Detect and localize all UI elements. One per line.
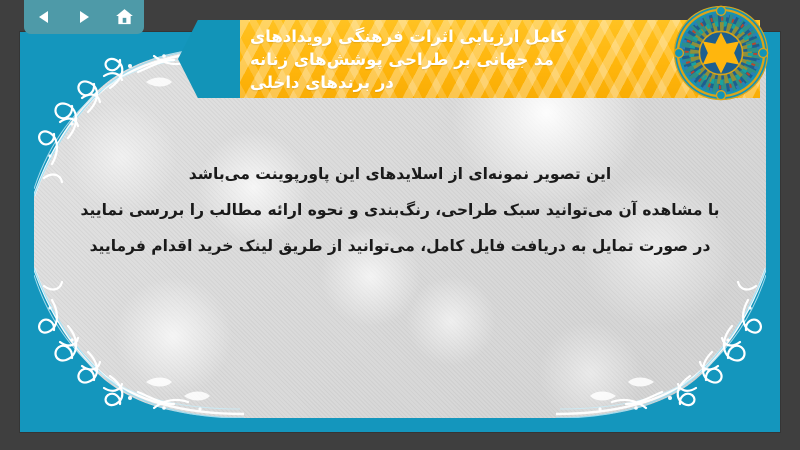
arabesque-corner-ornament-bottom-left: [34, 268, 244, 418]
title-line: مد جهانی بر طراحی پوشش‌های زنانه: [250, 48, 554, 71]
arabesque-corner-ornament-bottom-right: [556, 268, 766, 418]
home-icon: [115, 8, 134, 26]
body-line: این تصویر نمونه‌ای از اسلایدهای این پاور…: [74, 156, 726, 192]
back-button[interactable]: [29, 4, 59, 30]
title-line: در برندهای داخلی: [250, 71, 394, 94]
title-line: کامل ارزیابی اثرات فرهنگی رویدادهای: [250, 25, 566, 48]
persian-rosette-medallion-icon: [672, 4, 770, 102]
slide-content-panel: این تصویر نمونه‌ای از اسلایدهای این پاور…: [34, 46, 766, 418]
home-button[interactable]: [109, 4, 139, 30]
slide-body-text: این تصویر نمونه‌ای از اسلایدهای این پاور…: [74, 156, 726, 264]
body-line: با مشاهده آن می‌توانید سبک طراحی، رنگ‌بن…: [74, 192, 726, 228]
body-line: در صورت تمایل به دریافت فایل کامل، می‌تو…: [74, 228, 726, 264]
navigation-toolbar: [24, 0, 144, 34]
forward-button[interactable]: [69, 4, 99, 30]
triangle-right-icon: [76, 9, 92, 25]
triangle-left-icon: [36, 9, 52, 25]
slide-viewer: این تصویر نمونه‌ای از اسلایدهای این پاور…: [0, 0, 800, 450]
